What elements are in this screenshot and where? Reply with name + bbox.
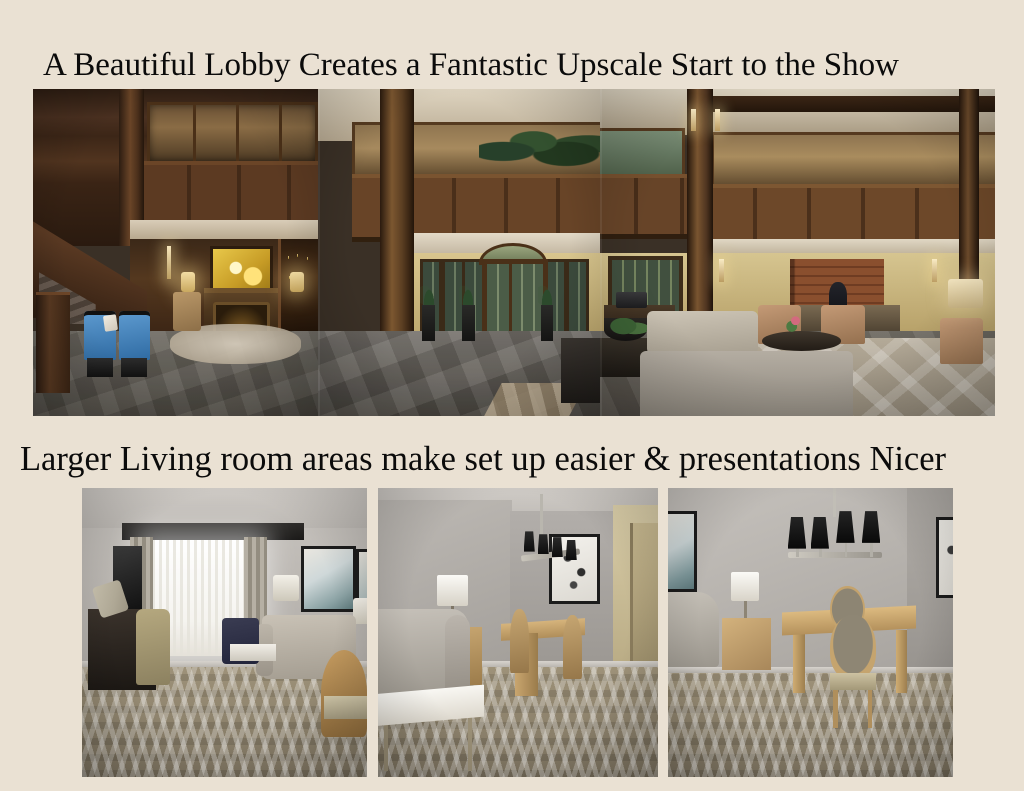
room3-wood-side-cube (722, 618, 770, 670)
room3-table-leg-left (793, 630, 804, 694)
photo-suite-living-room (82, 488, 367, 777)
lobby-center-column (380, 89, 414, 331)
room1-framed-artwork (301, 546, 355, 613)
lobby-ceiling-beam (703, 96, 995, 112)
lobby-plant-bowl (604, 318, 647, 341)
lobby-balcony-greenery (479, 122, 600, 171)
room3-chandelier-bar (788, 552, 882, 558)
lobby-right-sconce-4 (715, 109, 721, 132)
room1-floor-lamp (273, 575, 299, 601)
lobby-coffee-station (616, 292, 648, 308)
lobby-window-5 (566, 259, 589, 337)
lobby-planter-2 (541, 305, 554, 341)
lobby-stair-newel-post (36, 292, 70, 393)
room3-table-lamp (731, 572, 760, 601)
photo-panorama-segment-left (33, 89, 318, 416)
photo-suite-lounge-dining (378, 488, 658, 777)
page-title-top: A Beautiful Lobby Creates a Fantastic Up… (43, 46, 899, 84)
page-title-bottom: Larger Living room areas make set up eas… (20, 439, 946, 479)
lobby-dark-side-table (561, 338, 600, 403)
room1-round-chair-seat (324, 696, 367, 719)
lobby-right-sconce-2 (932, 259, 938, 282)
room3-framed-artwork-left (668, 511, 697, 592)
photo-panorama-segment-right (600, 89, 995, 416)
room1-round-back-chair (321, 650, 367, 737)
room2-coffee-table-leg-2 (468, 713, 472, 771)
photo-suite-dining-area (668, 488, 953, 777)
lobby-right-balcony-glass (711, 132, 995, 190)
room2-chandelier-shade-4 (566, 540, 577, 560)
lobby-accent-pillow (103, 314, 118, 332)
room2-chandelier-rod (540, 494, 542, 534)
room3-chandelier-arm-3 (845, 543, 848, 557)
lobby-right-balcony-glass-left (600, 128, 685, 180)
room2-dining-chair-2 (563, 615, 583, 679)
photo-panorama-segment-center (318, 89, 600, 416)
room2-dining-chair-1 (510, 609, 530, 673)
lobby-grey-sofa-foreground (640, 351, 853, 416)
room3-chair-leg-2 (868, 687, 873, 727)
room2-chandelier-shade-2 (538, 534, 549, 554)
room3-dining-chair-seat (830, 673, 876, 690)
lobby-blue-chair-2 (119, 311, 150, 360)
lobby-far-right-column (959, 89, 979, 279)
room3-chair-leg-1 (833, 687, 838, 727)
lobby-balcony-glass (147, 102, 318, 164)
lobby-floor-lamp (948, 279, 984, 308)
lobby-right-sconce-1 (719, 259, 725, 282)
lobby-planter-3 (422, 305, 435, 341)
room2-chandelier-shade-1 (524, 531, 535, 551)
lobby-right-balcony-panel-left (600, 174, 695, 239)
lobby-beige-sofa (647, 311, 758, 354)
room3-patterned-carpet (668, 673, 953, 777)
lobby-yellow-artwork (210, 246, 273, 295)
lobby-flower-arrangement (786, 315, 806, 335)
lobby-table-lamp-left (181, 272, 195, 292)
panorama-seam-1 (318, 89, 320, 416)
room3-dining-chair-front (830, 615, 876, 679)
room3-grey-armchair (668, 592, 719, 667)
room2-hallway-door[interactable] (630, 523, 658, 673)
lobby-planter-1 (462, 305, 475, 341)
room3-table-leg-right (896, 630, 907, 694)
lobby-entry-door-mullion (509, 259, 512, 337)
photo-lobby-panorama (33, 89, 995, 416)
room3-chandelier-rod (833, 488, 836, 517)
lobby-tan-armchair (173, 292, 202, 331)
room2-chandelier-shade-3 (552, 537, 563, 557)
room2-table-lamp (437, 575, 468, 607)
room1-coffee-table (230, 644, 276, 661)
room3-chandelier-arm-4 (870, 543, 873, 557)
panorama-seam-2 (600, 89, 602, 416)
lobby-right-sconce-3 (691, 109, 697, 132)
lobby-table-lamp-right (290, 272, 304, 292)
lobby-wall-sconce (167, 246, 172, 279)
room1-desk-chair (136, 609, 170, 684)
room2-sofa-arm (445, 615, 470, 690)
lobby-leather-chair-3 (940, 318, 983, 364)
room3-framed-artwork-right (936, 517, 953, 598)
